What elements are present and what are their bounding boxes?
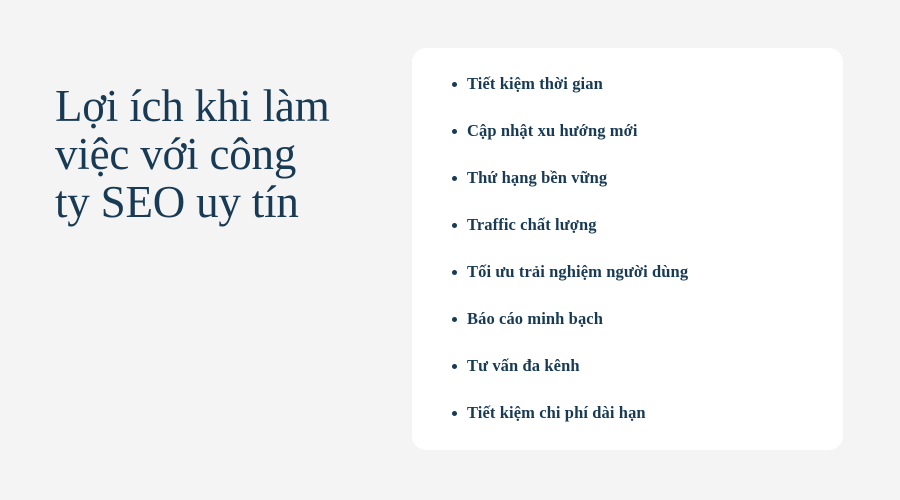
list-item: Traffic chất lượng <box>452 215 597 235</box>
bullet-dot-icon <box>452 270 457 275</box>
bullet-dot-icon <box>452 82 457 87</box>
page-title-line-3: ty SEO uy tín <box>55 178 395 226</box>
list-item-label: Cập nhật xu hướng mới <box>467 121 638 141</box>
list-item-label: Báo cáo minh bạch <box>467 309 603 329</box>
bullet-dot-icon <box>452 317 457 322</box>
bullet-dot-icon <box>452 176 457 181</box>
bullet-dot-icon <box>452 129 457 134</box>
list-item: Thứ hạng bền vững <box>452 168 607 188</box>
list-item-label: Tiết kiệm chi phí dài hạn <box>467 403 646 423</box>
list-item: Tiết kiệm thời gian <box>452 74 603 94</box>
list-item: Cập nhật xu hướng mới <box>452 121 638 141</box>
list-item-label: Traffic chất lượng <box>467 215 597 235</box>
list-item-label: Tối ưu trải nghiệm người dùng <box>467 262 688 282</box>
bullet-dot-icon <box>452 223 457 228</box>
page-title-line-1: Lợi ích khi làm <box>55 82 395 130</box>
bullet-dot-icon <box>452 411 457 416</box>
list-item-label: Thứ hạng bền vững <box>467 168 607 188</box>
list-item: Báo cáo minh bạch <box>452 309 603 329</box>
list-item: Tư vấn đa kênh <box>452 356 580 376</box>
list-item: Tiết kiệm chi phí dài hạn <box>452 403 646 423</box>
benefits-card: Tiết kiệm thời gian Cập nhật xu hướng mớ… <box>412 48 843 450</box>
page-title: Lợi ích khi làm việc với công ty SEO uy … <box>55 82 395 226</box>
bullet-dot-icon <box>452 364 457 369</box>
slide-canvas: Lợi ích khi làm việc với công ty SEO uy … <box>0 0 900 500</box>
list-item: Tối ưu trải nghiệm người dùng <box>452 262 688 282</box>
page-title-line-2: việc với công <box>55 130 395 178</box>
list-item-label: Tiết kiệm thời gian <box>467 74 603 94</box>
list-item-label: Tư vấn đa kênh <box>467 356 580 376</box>
